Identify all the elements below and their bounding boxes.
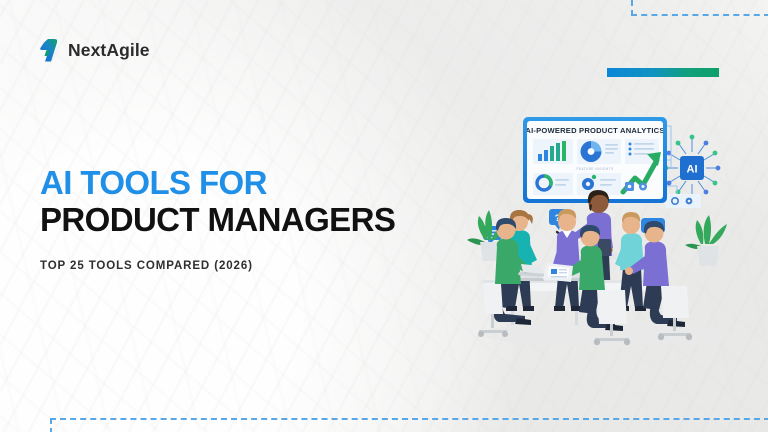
headline-line-2: PRODUCT MANAGERS — [40, 203, 470, 237]
headline-line-1: AI TOOLS FOR — [40, 166, 470, 200]
pie-chart-widget — [577, 139, 621, 164]
page-subtitle: TOP 25 TOOLS COMPARED (2026) — [40, 260, 253, 272]
brand-name: NextAgile — [68, 40, 150, 61]
dashed-corner-icon-bottom-left — [50, 418, 768, 432]
gear-chip-right — [665, 194, 701, 208]
poster-canvas: NextAgile AI TOOLS FOR PRODUCT MANAGERS … — [0, 0, 768, 432]
arrow-mark-icon — [38, 38, 61, 63]
page-title: AI TOOLS FOR PRODUCT MANAGERS — [40, 166, 470, 238]
accent-gradient-bar — [607, 68, 719, 77]
team-meeting-ai-analytics-illustration: AI AI-POWERED PRODUCT ANALY — [455, 108, 760, 353]
brand-logo[interactable]: NextAgile — [38, 38, 150, 63]
bar-chart-widget — [533, 139, 573, 164]
dashboard-caption: FEATURE INSIGHTS — [577, 167, 614, 171]
plant-right — [685, 215, 727, 266]
laptop-front-open — [543, 263, 573, 282]
dashboard-title: AI-POWERED PRODUCT ANALYTICS — [525, 126, 664, 135]
dashed-corner-icon-top-right — [631, 0, 768, 16]
analytics-dashboard-screen: AI-POWERED PRODUCT ANALYTICS — [523, 117, 667, 203]
ai-badge-label: AI — [687, 164, 698, 176]
ai-badge-group: AI — [664, 135, 721, 202]
donut-chart-widget — [533, 173, 573, 195]
